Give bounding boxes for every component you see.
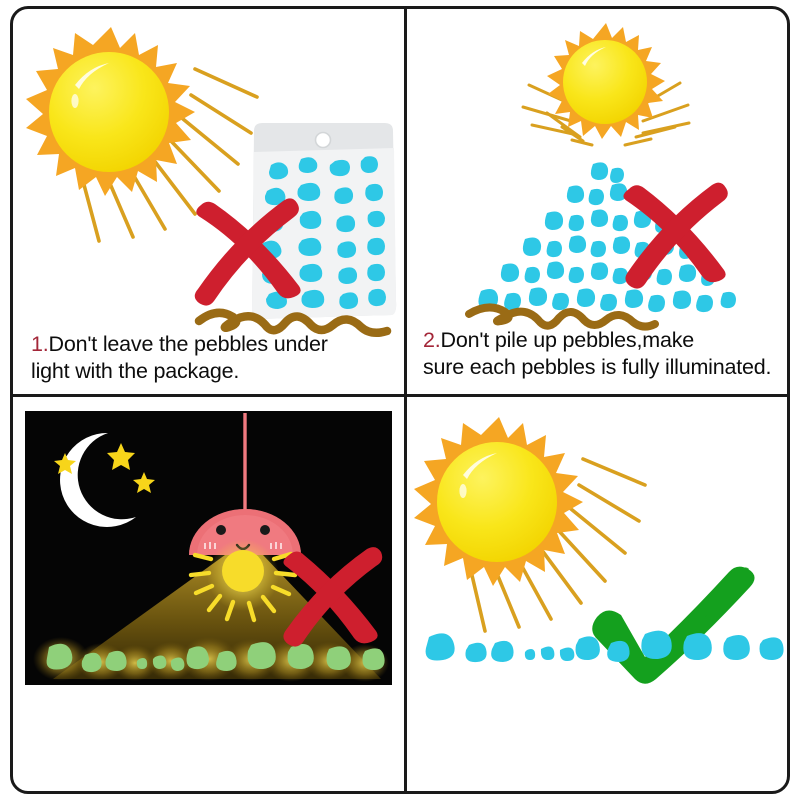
infographic-sheet: 1.Don't leave the pebbles under light wi… xyxy=(0,0,800,800)
outer-frame xyxy=(10,6,790,794)
